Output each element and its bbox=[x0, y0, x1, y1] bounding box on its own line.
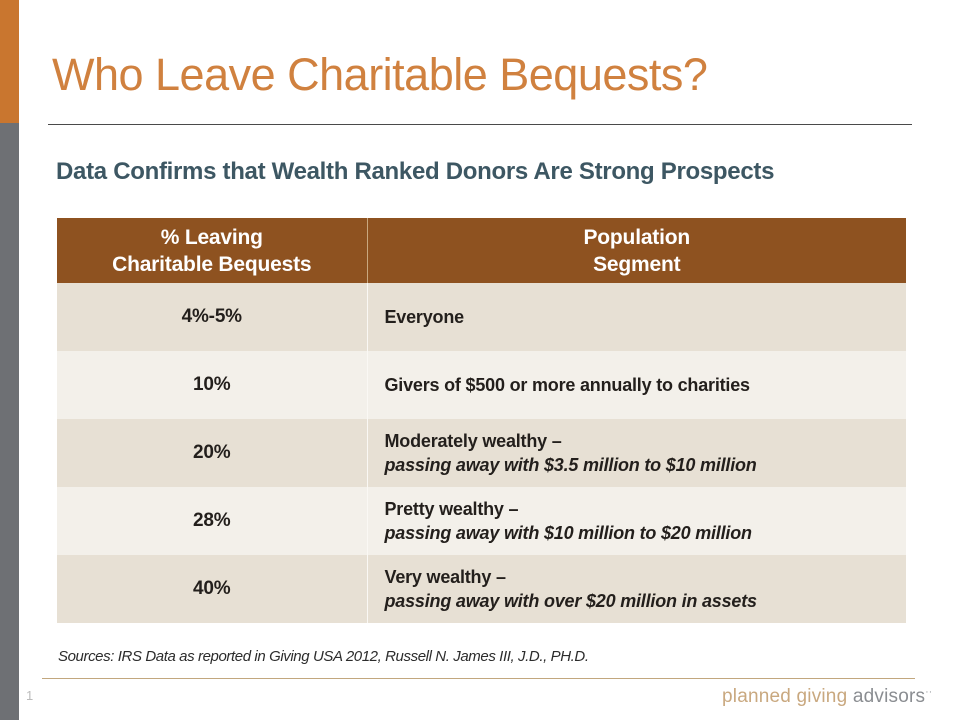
left-accent-bar-gray bbox=[0, 123, 19, 720]
cell-segment-main: Moderately wealthy – bbox=[385, 431, 562, 451]
cell-percent: 20% bbox=[57, 419, 367, 487]
table-row: 20% Moderately wealthy – passing away wi… bbox=[57, 419, 906, 487]
page-subtitle: Data Confirms that Wealth Ranked Donors … bbox=[56, 157, 774, 187]
cell-segment: Moderately wealthy – passing away with $… bbox=[367, 419, 906, 487]
column-header-segment: Population Segment bbox=[367, 218, 906, 283]
cell-segment-sub: passing away with $10 million to $20 mil… bbox=[385, 521, 907, 545]
source-note: Sources: IRS Data as reported in Giving … bbox=[58, 648, 589, 665]
cell-segment-sub: passing away with over $20 million in as… bbox=[385, 589, 907, 613]
cell-segment: Everyone bbox=[367, 283, 906, 351]
left-accent-bar-orange bbox=[0, 0, 19, 123]
footer-divider-rule bbox=[42, 678, 915, 679]
cell-percent: 4%-5% bbox=[57, 283, 367, 351]
table-row: 10% Givers of $500 or more annually to c… bbox=[57, 351, 906, 419]
cell-segment-main: Everyone bbox=[385, 307, 464, 327]
cell-segment-main: Very wealthy – bbox=[385, 567, 506, 587]
cell-percent: 28% bbox=[57, 487, 367, 555]
table-row: 4%-5% Everyone bbox=[57, 283, 906, 351]
column-header-segment-line1: Population bbox=[584, 226, 691, 249]
cell-percent: 10% bbox=[57, 351, 367, 419]
title-divider-rule bbox=[48, 124, 912, 125]
table-row: 40% Very wealthy – passing away with ove… bbox=[57, 555, 906, 623]
brand-logo-part2: advisors bbox=[847, 686, 925, 707]
page-number: 1 bbox=[26, 688, 33, 703]
page-title: Who Leave Charitable Bequests? bbox=[52, 48, 912, 102]
trademark-icon: ·· bbox=[925, 687, 932, 698]
table-body: 4%-5% Everyone 10% Givers of $500 or mor… bbox=[57, 283, 906, 623]
cell-segment-main: Givers of $500 or more annually to chari… bbox=[385, 375, 750, 395]
bequest-statistics-table: % Leaving Charitable Bequests Population… bbox=[57, 218, 906, 623]
cell-segment: Very wealthy – passing away with over $2… bbox=[367, 555, 906, 623]
cell-segment-main: Pretty wealthy – bbox=[385, 499, 519, 519]
table-header-row: % Leaving Charitable Bequests Population… bbox=[57, 218, 906, 283]
column-header-segment-line2: Segment bbox=[593, 253, 680, 276]
column-header-percent-line1: % Leaving bbox=[161, 226, 263, 249]
cell-percent: 40% bbox=[57, 555, 367, 623]
brand-logo: planned giving advisors·· bbox=[722, 686, 932, 708]
column-header-percent-line2: Charitable Bequests bbox=[112, 253, 311, 276]
column-header-percent: % Leaving Charitable Bequests bbox=[57, 218, 367, 283]
slide-canvas: Who Leave Charitable Bequests? Data Conf… bbox=[0, 0, 960, 720]
cell-segment: Givers of $500 or more annually to chari… bbox=[367, 351, 906, 419]
cell-segment: Pretty wealthy – passing away with $10 m… bbox=[367, 487, 906, 555]
cell-segment-sub: passing away with $3.5 million to $10 mi… bbox=[385, 453, 907, 477]
table-header: % Leaving Charitable Bequests Population… bbox=[57, 218, 906, 283]
brand-logo-part1: planned giving bbox=[722, 686, 847, 707]
table-row: 28% Pretty wealthy – passing away with $… bbox=[57, 487, 906, 555]
